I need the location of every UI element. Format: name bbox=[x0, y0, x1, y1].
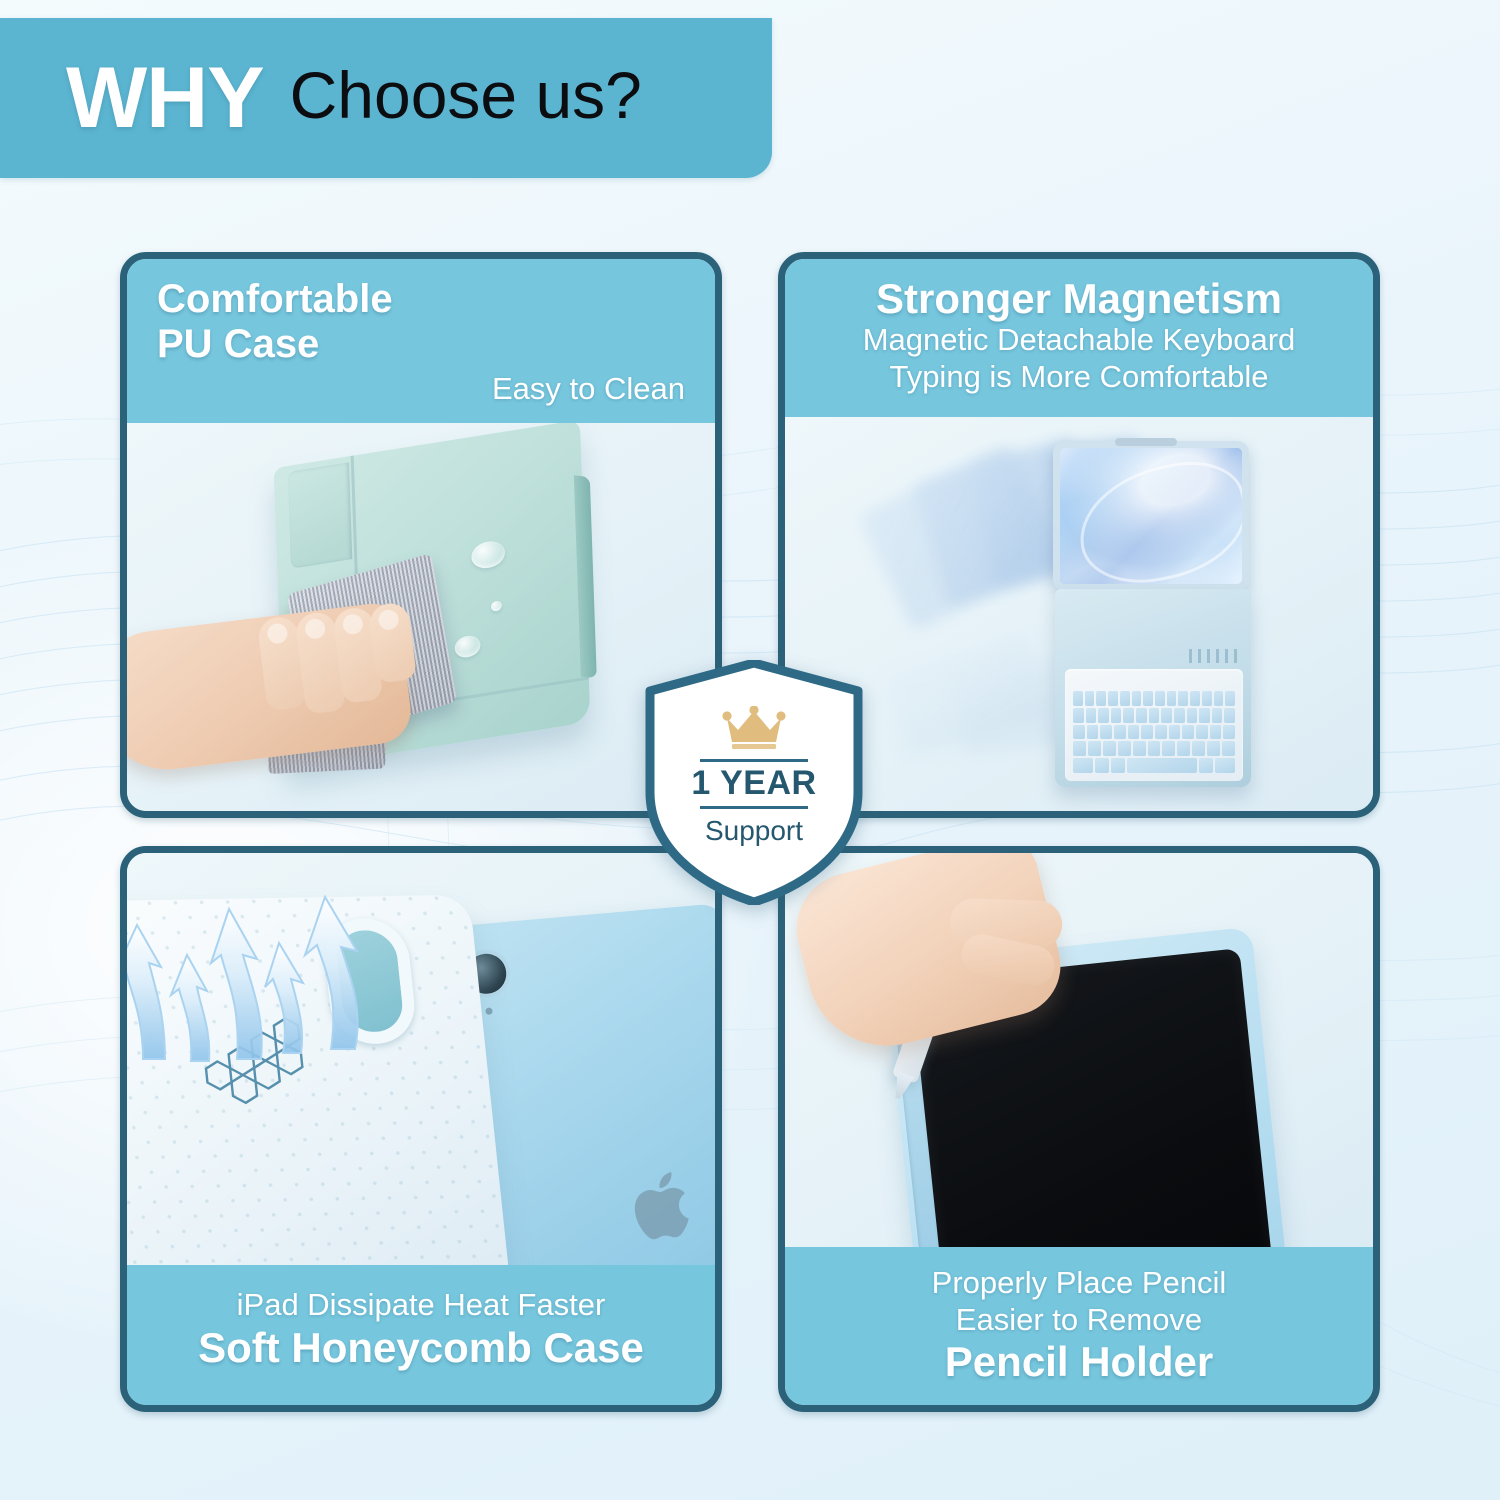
card-subtitle-line1: Properly Place Pencil bbox=[815, 1265, 1343, 1302]
banner-rest-text: Choose us? bbox=[290, 62, 642, 134]
card-title-stronger-magnetism: Stronger Magnetism bbox=[815, 275, 1343, 322]
pu-case-fold bbox=[288, 463, 353, 569]
card-caption-pencil-holder: Properly Place Pencil Easier to Remove P… bbox=[785, 1247, 1373, 1405]
keyboard-case-base bbox=[1055, 589, 1251, 787]
keyboard-plate bbox=[1065, 669, 1243, 781]
card-title-soft-honeycomb-case: Soft Honeycomb Case bbox=[157, 1324, 685, 1371]
key-row bbox=[1073, 758, 1235, 773]
banner-highlight-word: WHY bbox=[66, 55, 264, 141]
shield-shape bbox=[645, 660, 863, 905]
card-caption-magnetism: Stronger Magnetism Magnetic Detachable K… bbox=[785, 259, 1373, 417]
keyboard-keys bbox=[1073, 691, 1235, 773]
card-title-pencil-holder: Pencil Holder bbox=[815, 1338, 1343, 1385]
pu-case-edge bbox=[574, 476, 597, 679]
photo-pencil-holder bbox=[785, 853, 1373, 1247]
card-title-line1: Comfortable bbox=[157, 277, 685, 322]
card-title-line2: PU Case bbox=[157, 322, 685, 367]
card-subtitle-easy-to-clean: Easy to Clean bbox=[157, 371, 685, 408]
card-subtitle-heat: iPad Dissipate Heat Faster bbox=[157, 1287, 685, 1324]
water-droplet bbox=[454, 634, 480, 659]
function-row-dots bbox=[1189, 649, 1239, 663]
card-subtitle-line2: Typing is More Comfortable bbox=[815, 359, 1343, 396]
camera-bar bbox=[1115, 438, 1177, 446]
banner-why-choose-us: WHY Choose us? bbox=[0, 18, 772, 178]
feature-card-soft-honeycomb-case[interactable]: iPad Dissipate Heat Faster Soft Honeycom… bbox=[120, 846, 722, 1412]
apple-logo-icon bbox=[626, 1162, 705, 1248]
key-row bbox=[1073, 741, 1235, 756]
ipad-keyboard-assembly bbox=[1053, 441, 1253, 781]
heat-dissipation-arrows-icon bbox=[127, 863, 377, 1083]
feature-card-comfortable-pu-case[interactable]: Comfortable PU Case Easy to Clean bbox=[120, 252, 722, 818]
microphone-icon bbox=[485, 1007, 493, 1015]
card-caption-honeycomb: iPad Dissipate Heat Faster Soft Honeycom… bbox=[127, 1265, 715, 1405]
key-row bbox=[1073, 708, 1235, 723]
ipad-screen bbox=[1053, 441, 1249, 591]
water-droplet bbox=[491, 600, 502, 612]
photo-magnetic-keyboard bbox=[785, 417, 1373, 811]
card-caption-pu-case: Comfortable PU Case Easy to Clean bbox=[127, 259, 715, 423]
water-droplet bbox=[471, 539, 505, 570]
card-subtitle-line2: Easier to Remove bbox=[815, 1302, 1343, 1339]
key-row bbox=[1073, 725, 1235, 740]
key-row bbox=[1073, 691, 1235, 706]
photo-honeycomb-case bbox=[127, 853, 715, 1265]
photo-pu-case-cleaning bbox=[127, 423, 715, 811]
card-subtitle-line1: Magnetic Detachable Keyboard bbox=[815, 322, 1343, 359]
feature-card-stronger-magnetism[interactable]: Stronger Magnetism Magnetic Detachable K… bbox=[778, 252, 1380, 818]
feature-card-pencil-holder[interactable]: Properly Place Pencil Easier to Remove P… bbox=[778, 846, 1380, 1412]
warranty-badge: 1 YEAR Support bbox=[645, 660, 863, 905]
